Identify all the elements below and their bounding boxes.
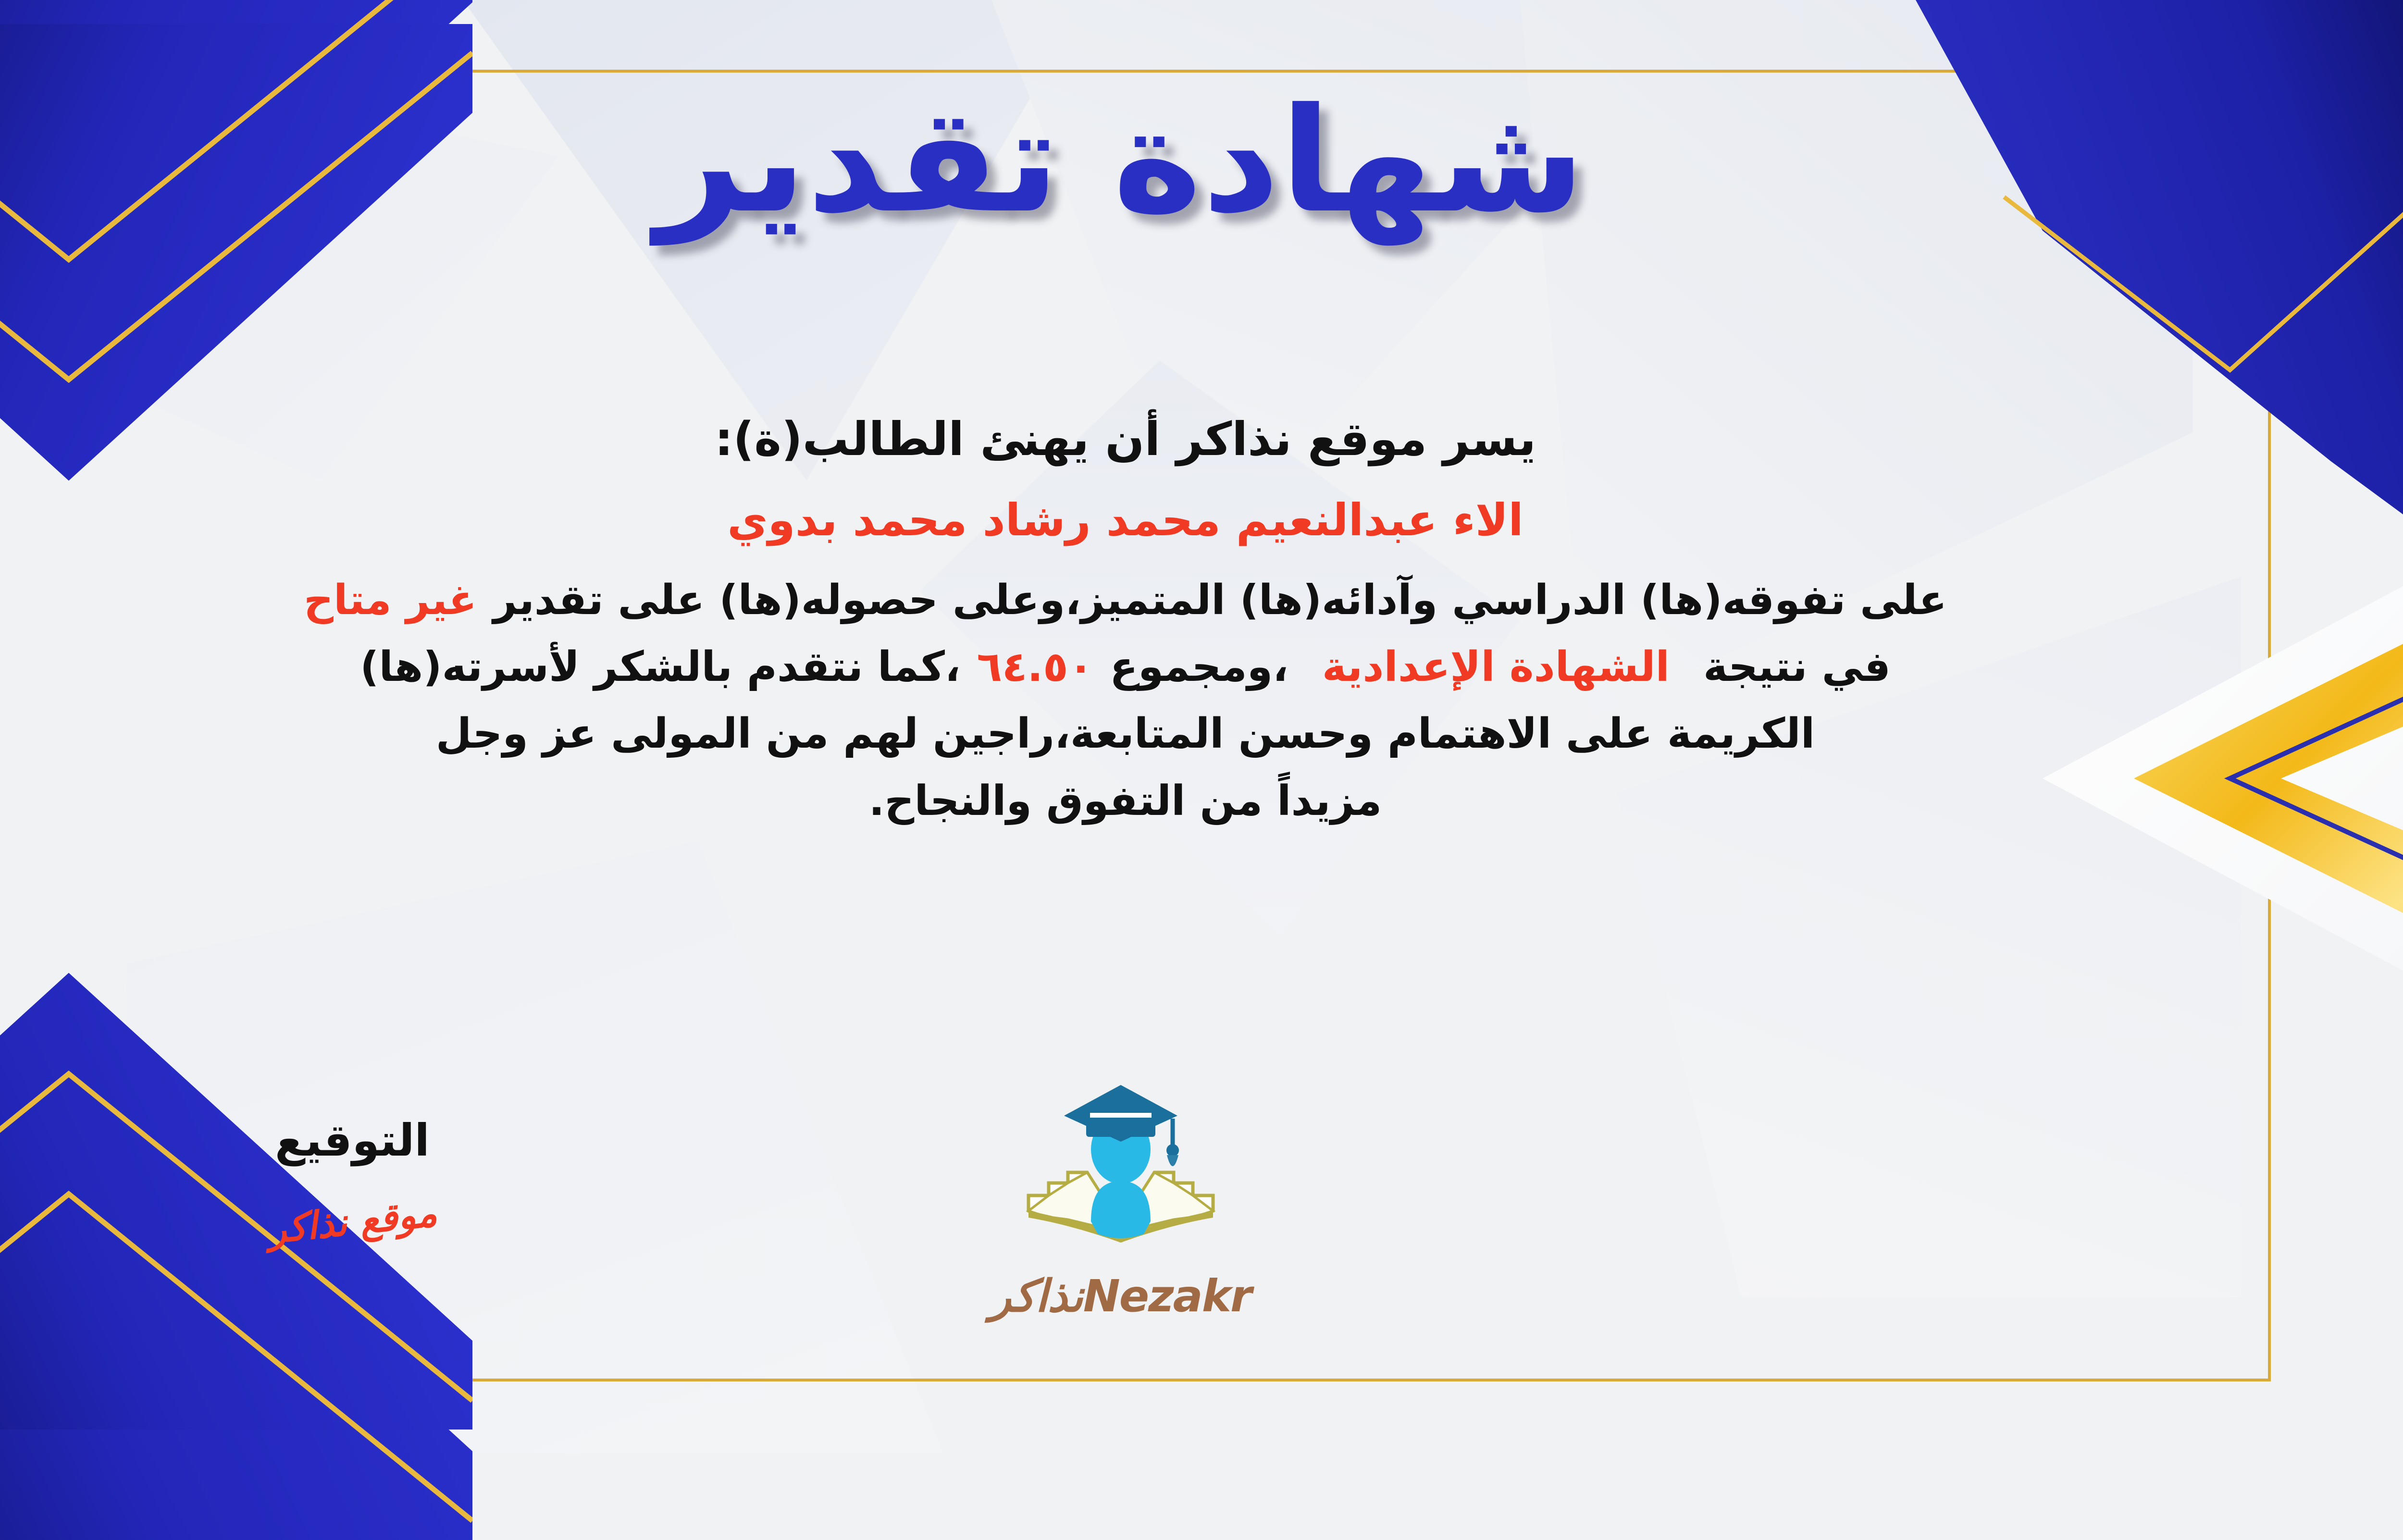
total-label: ،ومجموع bbox=[1110, 643, 1288, 691]
grade-value: غير متاح bbox=[304, 576, 477, 624]
certificate-title: شهادة تقدير bbox=[0, 82, 2403, 240]
student-name: الاء عبدالنعيم محمد رشاد محمد بدوي bbox=[0, 494, 2259, 546]
certificate-body: يسر موقع نذاكر أن يهنئ الطالب(ة): الاء ع… bbox=[0, 404, 2259, 835]
signature-mark: موقع نذاكر bbox=[266, 1191, 439, 1252]
congratulation-lead-line: يسر موقع نذاكر أن يهنئ الطالب(ة): bbox=[0, 404, 2259, 475]
certificate-content: شهادة تقدير يسر موقع نذاكر أن يهنئ الطال… bbox=[0, 0, 2403, 1454]
graduation-book-icon bbox=[1020, 1081, 1222, 1273]
exam-name: الشهادة الإعدادية bbox=[1322, 643, 1670, 691]
paragraph-line-2: في نتيجةالشهادة الإعدادية،ومجموع٦٤.٥٠،كم… bbox=[0, 634, 2259, 701]
logo-wordmark: Nezakrنذاكر bbox=[953, 1270, 1289, 1322]
paragraph-line-4: مزيداً من التفوق والنجاح. bbox=[0, 768, 2259, 835]
certificate-paragraph: على تفوقه(ها) الدراسي وآدائه(ها) المتميز… bbox=[0, 567, 2259, 835]
logo-brand-latin: Nezakr bbox=[1083, 1270, 1251, 1322]
achievement-text: على تفوقه(ها) الدراسي وآدائه(ها) المتميز… bbox=[493, 576, 1947, 624]
nezakr-logo: Nezakrنذاكر bbox=[953, 1081, 1289, 1322]
paragraph-line-3: الكريمة على الاهتمام وحسن المتابعة،راجين… bbox=[0, 701, 2259, 767]
signature-label: التوقيع bbox=[203, 1115, 501, 1166]
logo-brand-arabic: نذاكر bbox=[990, 1270, 1083, 1322]
total-score: ٦٤.٥٠ bbox=[977, 643, 1094, 691]
thanks-text: ،كما نتقدم بالشكر لأسرته(ها) bbox=[360, 643, 960, 691]
paragraph-line-1: على تفوقه(ها) الدراسي وآدائه(ها) المتميز… bbox=[0, 567, 2259, 634]
signature-block: التوقيع موقع نذاكر bbox=[203, 1115, 501, 1244]
result-prefix: في نتيجة bbox=[1703, 643, 1891, 691]
